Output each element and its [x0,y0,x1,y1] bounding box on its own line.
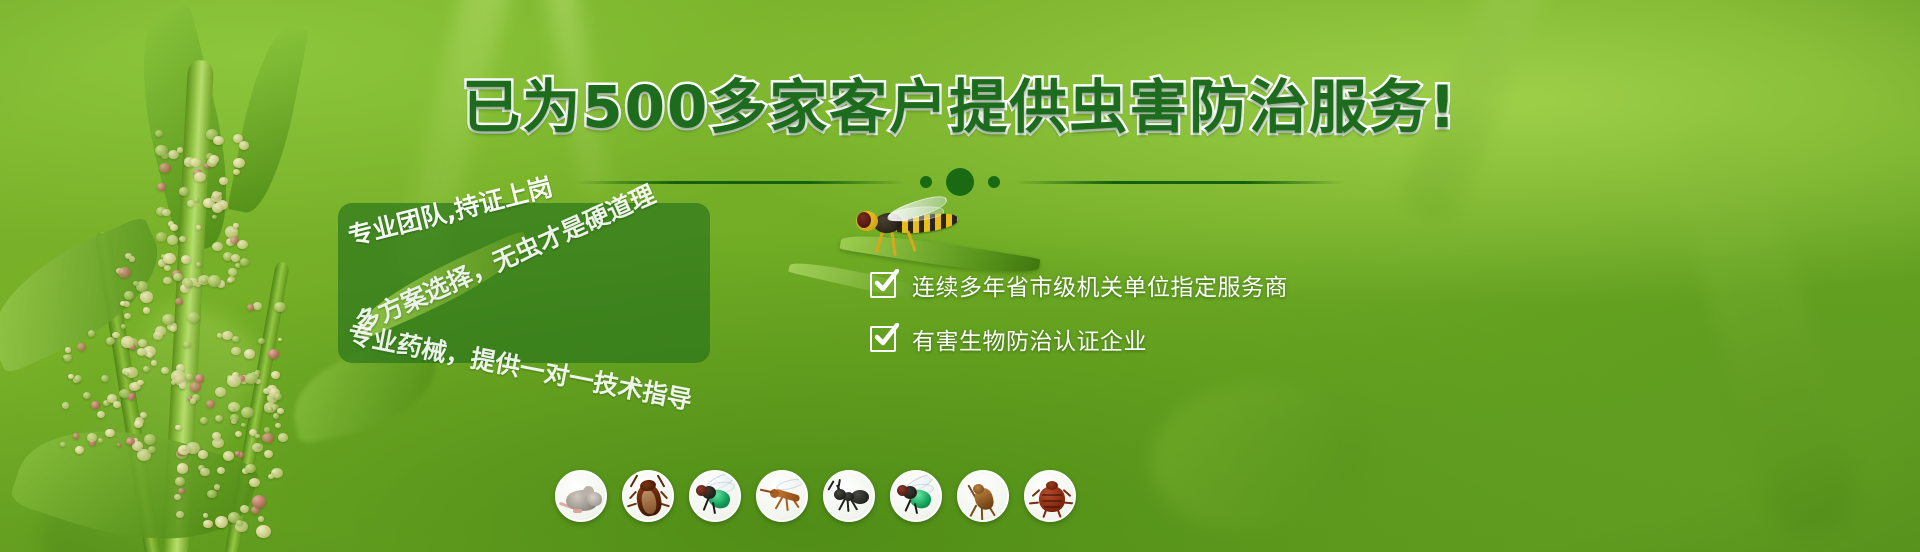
divider-rule-left [576,181,906,184]
flea-icon[interactable] [957,470,1009,522]
list-item: 有害生物防治认证企业 [870,322,1288,356]
checkbox-checked-icon [870,272,896,298]
cockroach-icon[interactable] [622,470,674,522]
page-title: 已为500多家客户提供虫害防治服务! [0,78,1920,136]
divider-rule-right [1014,181,1344,184]
mouse-icon[interactable] [555,470,607,522]
housefly-icon[interactable] [890,470,942,522]
panel-line-1: 专业团队,持证上岗 [344,201,422,259]
bullet-label: 连续多年省市级机关单位指定服务商 [912,268,1288,302]
checkbox-checked-icon [870,326,896,352]
hoverfly-icon [848,203,968,251]
list-item: 连续多年省市级机关单位指定服务商 [870,268,1288,302]
feature-highlight-panel: 专业团队,持证上岗 多方案选择，无虫才是硬道理 专业药械，提供一对一技术指导 [338,203,710,363]
pest-control-hero-banner: 已为500多家客户提供虫害防治服务! 专业团队,持证上岗 多方案选择，无虫才是硬… [0,0,1920,552]
credential-bullet-list: 连续多年省市级机关单位指定服务商 有害生物防治认证企业 [870,268,1288,376]
panel-line-3: 专业药械，提供一对一技术指导 [345,315,397,359]
fly-icon[interactable] [689,470,741,522]
pest-type-icon-row [555,470,1076,522]
bedbug-icon[interactable] [1024,470,1076,522]
ant-icon[interactable] [823,470,875,522]
mosquito-icon[interactable] [756,470,808,522]
headline-text: 已为500多家客户提供虫害防治服务! [462,73,1458,141]
bullet-label: 有害生物防治认证企业 [912,322,1147,356]
